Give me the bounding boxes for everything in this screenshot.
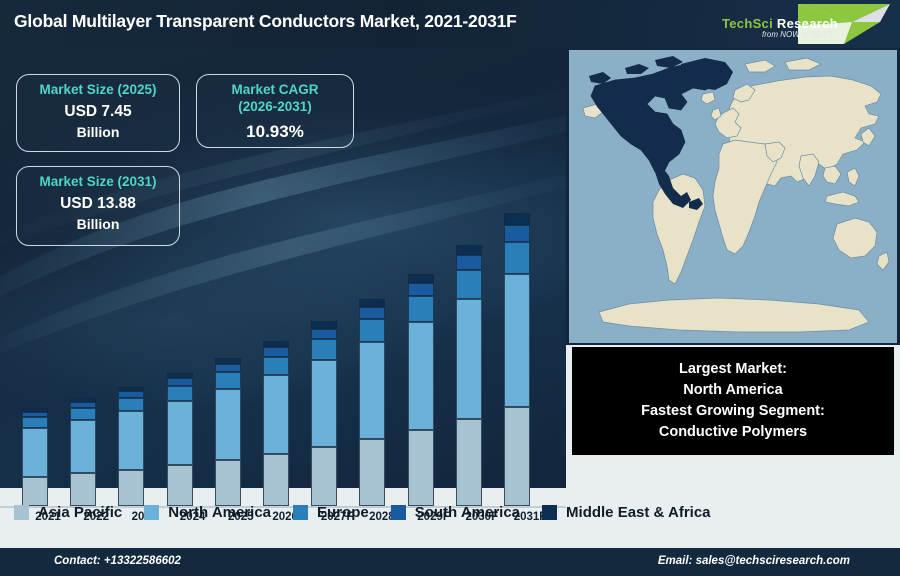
- stat-unit: Billion: [17, 123, 179, 141]
- stat-label-line2: (2026-2031): [197, 99, 353, 116]
- legend-item-europe[interactable]: Europe: [293, 504, 369, 521]
- legend-item-north-america[interactable]: North America: [144, 504, 271, 521]
- legend-label: Europe: [317, 504, 369, 521]
- footer-contact: Contact: +13322586602: [54, 555, 181, 567]
- stat-card-market-size-2031: Market Size (2031) USD 13.88 Billion: [16, 166, 180, 246]
- fastest-segment-label: Fastest Growing Segment:: [641, 401, 825, 422]
- legend-label: South America: [415, 504, 520, 521]
- logo-wordmark: TechSci Research: [722, 16, 838, 31]
- legend-swatch-icon: [144, 505, 159, 520]
- key-findings-box: Largest Market: North America Fastest Gr…: [570, 345, 896, 457]
- fastest-segment-value: Conductive Polymers: [659, 422, 807, 443]
- legend-item-middle-east-africa[interactable]: Middle East & Africa: [542, 504, 710, 521]
- stat-unit: Billion: [17, 215, 179, 233]
- logo-tagline: from NOW to NEXT: [762, 30, 832, 39]
- legend-swatch-icon: [293, 505, 308, 520]
- world-map-panel: [566, 48, 900, 345]
- world-map-svg: [569, 50, 897, 343]
- legend-item-south-america[interactable]: South America: [391, 504, 520, 521]
- page-title: Global Multilayer Transparent Conductors…: [14, 11, 517, 32]
- legend-label: North America: [168, 504, 271, 521]
- stat-label-line1: Market CAGR: [197, 82, 353, 99]
- stat-value: USD 7.45: [17, 102, 179, 123]
- stat-card-market-size-2025: Market Size (2025) USD 7.45 Billion: [16, 74, 180, 152]
- techsci-research-logo: TechSci Research from NOW to NEXT: [702, 2, 892, 46]
- stat-value: 10.93%: [197, 121, 353, 144]
- legend-swatch-icon: [542, 505, 557, 520]
- infographic-root: Global Multilayer Transparent Conductors…: [0, 0, 900, 576]
- logo-text-research: Research: [773, 16, 838, 31]
- legend-label: Middle East & Africa: [566, 504, 710, 521]
- stat-value: USD 13.88: [17, 194, 179, 215]
- footer-email: Email: sales@techsciresearch.com: [658, 555, 850, 567]
- logo-text-techsci: TechSci: [722, 16, 773, 31]
- world-map: [569, 50, 897, 343]
- stat-label: Market Size (2031): [17, 174, 179, 191]
- largest-market-value: North America: [683, 380, 782, 401]
- legend-swatch-icon: [391, 505, 406, 520]
- legend-item-asia-pacific[interactable]: Asia Pacific: [14, 504, 122, 521]
- header-bar: Global Multilayer Transparent Conductors…: [0, 0, 900, 48]
- stat-label: Market Size (2025): [17, 82, 179, 99]
- chart-legend: Asia PacificNorth AmericaEuropeSouth Ame…: [0, 492, 900, 532]
- footer-bar: Contact: +13322586602 Email: sales@techs…: [0, 548, 900, 576]
- legend-swatch-icon: [14, 505, 29, 520]
- stat-card-market-cagr: Market CAGR (2026-2031) 10.93%: [196, 74, 354, 148]
- largest-market-label: Largest Market:: [679, 359, 787, 380]
- legend-label: Asia Pacific: [38, 504, 122, 521]
